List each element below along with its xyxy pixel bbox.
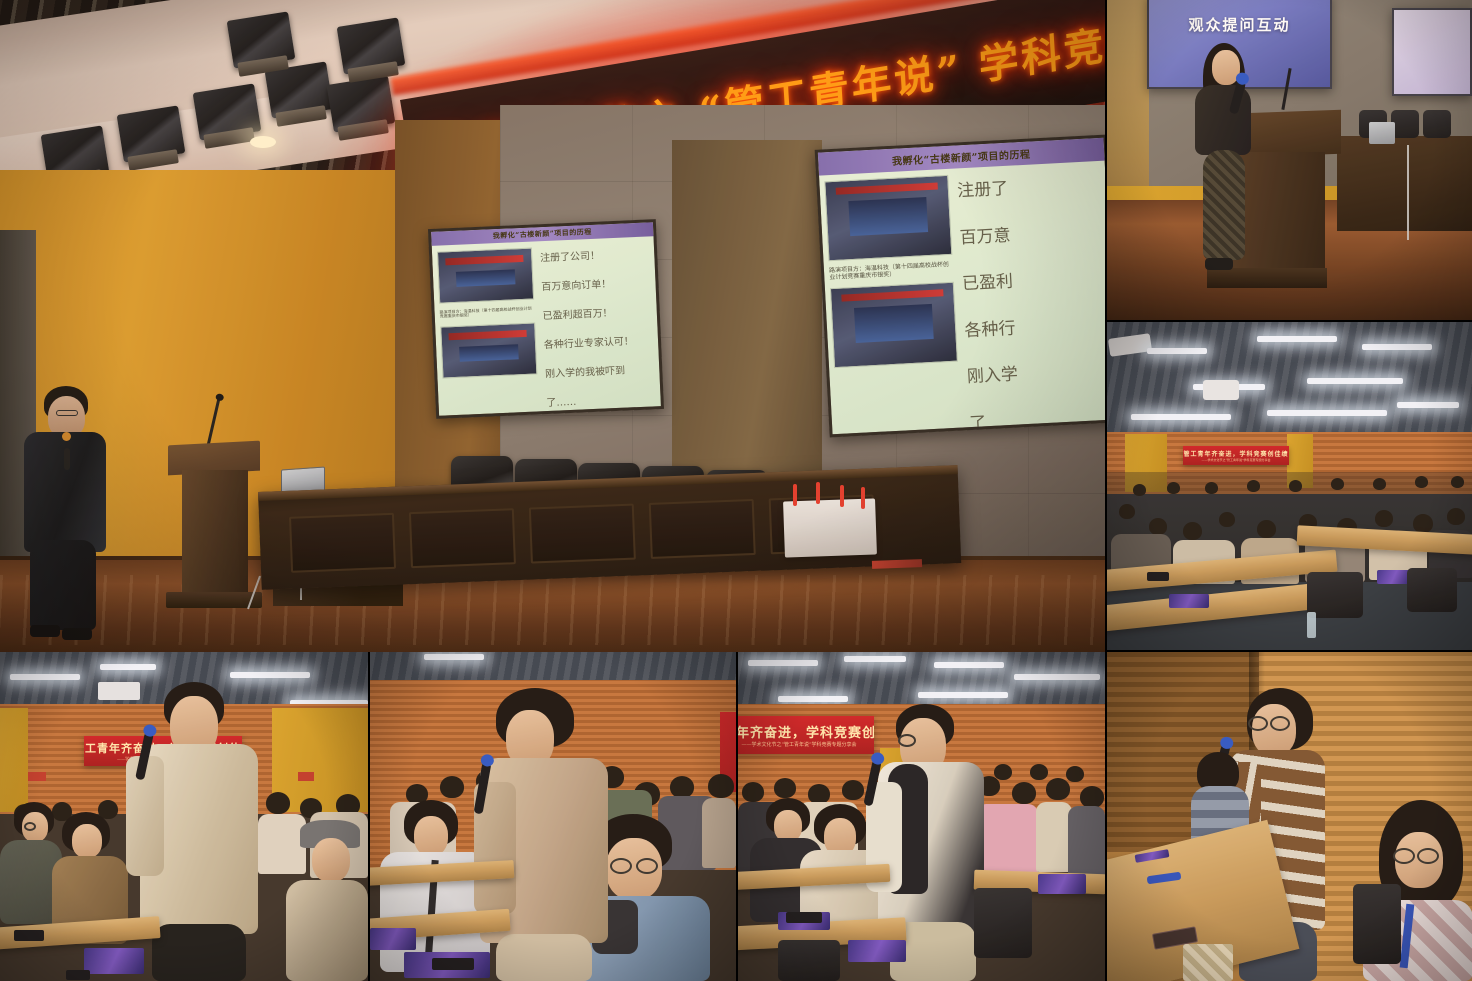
audience-head [1415, 476, 1428, 488]
event-booklet [370, 928, 416, 950]
presenter-microphone [64, 448, 70, 470]
event-booklet [84, 948, 144, 974]
main-hall-photo: 学术文化节之 “管工青年说” 学科竞赛专题分 我孵化“古楼新颜”项目的历程 路演… [0, 0, 1105, 652]
exit-sign [298, 772, 314, 781]
phone [786, 912, 822, 923]
table-panel [529, 504, 636, 564]
slide-body-left: 路演项目方：海温科技（第十四届高校战杯创业计划竞赛重庆市银奖） 注册了公司！ 百… [432, 236, 662, 419]
table-panel [289, 513, 396, 573]
slide-thumbnails-left: 路演项目方：海温科技（第十四届高校战杯创业计划竞赛重庆市银奖） [437, 248, 539, 419]
audience-head [708, 774, 734, 798]
host-top [1195, 85, 1251, 155]
microphone-head-icon [62, 432, 71, 441]
floor-reflection [0, 575, 1105, 645]
questioner-trousers [152, 924, 246, 981]
audience-body [702, 798, 736, 868]
projection-screen-secondary [1392, 8, 1472, 96]
ceiling-light [100, 664, 156, 670]
ceiling-light [1397, 402, 1459, 408]
audience-head [1046, 778, 1070, 800]
slide-line: 各种行业专家认可！ [543, 331, 653, 351]
audience-head [1119, 504, 1135, 519]
host-skirt [1203, 150, 1245, 260]
student-question-photo-2 [370, 652, 736, 981]
slide-line: 已盈利超百万！ [542, 302, 652, 322]
questioner-trousers [496, 934, 592, 981]
ceiling-light [1307, 378, 1403, 384]
presenter-shoe [62, 628, 92, 640]
glasses-icon [636, 858, 658, 874]
slide-lines-right: 注册了 百万意 已盈利 各种行 刚入学 了…… [954, 167, 1105, 438]
audience-head [1247, 480, 1260, 492]
banner-main-text: 管工青年齐奋进，学科竞赛创佳绩 [738, 722, 874, 741]
glasses-icon [1248, 716, 1268, 731]
banner-sub-text: ——学术文化节之“管工青年说”学科竞赛专题分享会 [741, 741, 856, 748]
ceiling-light [1362, 344, 1432, 350]
audience-head [1205, 482, 1218, 494]
stage-spotlight [117, 105, 186, 162]
phone [432, 958, 474, 970]
power-cable [1407, 145, 1409, 240]
podium-base [1207, 268, 1327, 288]
slide-line: 了…… [546, 389, 656, 409]
lecture-chair [1407, 568, 1457, 612]
lecture-chair [1353, 884, 1401, 964]
slide-thumbnail [440, 322, 537, 378]
lecture-hall-wide-photo: 管工青年齐奋进，学科竞赛创佳绩 ——学术文化节之“管工青年说”学科竞赛专题分享会 [1107, 322, 1472, 650]
audience-head [994, 764, 1012, 780]
ceiling-light [748, 660, 818, 666]
projection-screen-left: 我孵化“古楼新颜”项目的历程 路演项目方：海温科技（第十四届高校战杯创业计划竞赛… [428, 219, 664, 419]
audience-body [1036, 802, 1072, 872]
student-question-photo-4 [1107, 652, 1472, 981]
laptop [1369, 122, 1395, 144]
gift-bag-handle [793, 484, 797, 506]
stage-table [1337, 136, 1472, 231]
audience-body [1068, 806, 1105, 878]
audience-head [1012, 782, 1036, 804]
student-top [286, 880, 368, 981]
audience-head [1375, 510, 1393, 527]
student-question-photo-1: 管工青年齐奋进，学科竞赛创佳绩 ——学术文化节之“管工青年说”学科竞赛专题分享会 [0, 652, 368, 981]
slide-thumbnail [830, 282, 958, 368]
wall-banner: 管工青年齐奋进，学科竞赛创佳绩 ——学术文化节之“管工青年说”学科竞赛专题分享会 [1183, 446, 1289, 465]
table-panel [409, 508, 516, 568]
presenter-glasses-icon [56, 410, 78, 416]
event-booklet [848, 940, 906, 962]
slide-thumbnail [824, 175, 952, 261]
audience-head [1133, 484, 1146, 496]
banner-main-text: 管工青年齐奋进，学科竞赛创佳绩 [1183, 449, 1288, 458]
audience-head [1066, 766, 1084, 782]
ceiling-light [230, 672, 310, 678]
slide-line: 百万意向订单！ [541, 273, 651, 293]
slide-line: 已盈利 [961, 262, 1105, 294]
gift-bag-handle [861, 487, 865, 509]
lecture-chair [1307, 572, 1363, 618]
event-booklet [1169, 594, 1209, 608]
ceiling-light [10, 674, 80, 680]
slide-body-right: 路演项目方：海温科技（第十四届高校战杯创业计划竞赛重庆市银奖） 注册了 百万意 … [819, 161, 1105, 438]
audience-head [1447, 508, 1465, 525]
ceiling-light [1014, 674, 1100, 680]
projection-screen-right: 我孵化“古楼新颜”项目的历程 路演项目方：海温科技（第十四届高校战杯创业计划竞赛… [815, 135, 1105, 438]
ceiling-vent [98, 682, 140, 700]
ceiling-light [778, 696, 848, 702]
photo-collage: 学术文化节之 “管工青年说” 学科竞赛专题分 我孵化“古楼新颜”项目的历程 路演… [0, 0, 1472, 981]
student-face [414, 816, 448, 856]
tote-bag [1183, 944, 1233, 981]
slide-line: 百万意 [959, 215, 1104, 247]
slide-lines-left: 注册了公司！ 百万意向订单！ 已盈利超百万！ 各种行业专家认可！ 刚入学的我被吓… [538, 242, 657, 418]
ceiling-light [424, 654, 484, 660]
audience-head [1183, 522, 1202, 540]
ceiling-downlight [250, 136, 276, 148]
slide-thumbnails-right: 路演项目方：海温科技（第十四届高校战杯创业计划竞赛重庆市银奖） [824, 175, 962, 438]
student-face [312, 838, 350, 882]
water-bottle [1307, 612, 1316, 638]
audience-head [266, 792, 290, 814]
ceiling-light [1131, 414, 1231, 420]
slide-line: 刚入学的我被吓到 [545, 360, 655, 380]
audience-head [1451, 476, 1464, 488]
audience-head [774, 778, 796, 798]
lecture-chair [778, 940, 840, 981]
audience-head [1030, 764, 1048, 780]
audience-body [258, 814, 306, 874]
glasses-icon [24, 822, 36, 831]
audience-head [808, 784, 830, 804]
stage-chair [1423, 110, 1451, 138]
stage-spotlight [193, 83, 262, 140]
glasses-icon [610, 858, 632, 874]
ceiling-light [1147, 348, 1207, 354]
student-face [72, 824, 102, 858]
glasses-icon [1393, 848, 1415, 864]
slide-thumbnail [437, 248, 534, 304]
wood-wall-panel [1107, 0, 1149, 215]
presenter-trousers [30, 540, 96, 630]
audience-head [440, 776, 464, 798]
audience-head [670, 776, 694, 798]
slide-line: 注册了 [956, 169, 1101, 201]
audience-head [1149, 518, 1167, 535]
wall-banner: 管工青年齐奋进，学科竞赛创佳绩 ——学术文化节之“管工青年说”学科竞赛专题分享会 [738, 716, 874, 754]
audience-head [1413, 514, 1433, 533]
podium-body [182, 470, 248, 598]
slide-line: 注册了公司！ [540, 244, 650, 264]
audience-head [1331, 478, 1344, 490]
host-shoe [1205, 258, 1233, 270]
table-panel [649, 499, 756, 559]
slide-line: 各种行 [964, 309, 1105, 341]
ceiling-light [1257, 336, 1337, 342]
audience-head [1257, 520, 1276, 538]
gift-bag-handle [816, 482, 820, 504]
ceiling-light [844, 656, 906, 662]
audience-head [1289, 480, 1302, 492]
presenter-shoe [30, 625, 60, 637]
glasses-icon [1417, 848, 1439, 864]
banner-sub-text: ——学术文化节之“管工青年说”学科竞赛专题分享会 [1201, 458, 1270, 462]
podium-host-photo: 观众提问互动 [1107, 0, 1472, 320]
phone [66, 970, 90, 980]
audience-head [1373, 478, 1386, 490]
phone [1147, 572, 1169, 581]
glasses-icon [1270, 716, 1290, 731]
wall-door [0, 708, 28, 812]
ceiling-fan [1203, 380, 1239, 400]
student-question-photo-3: 管工青年齐奋进，学科竞赛创佳绩 ——学术文化节之“管工青年说”学科竞赛专题分享会 [738, 652, 1105, 981]
glasses-icon [898, 734, 916, 747]
audience-head [1080, 786, 1104, 808]
exit-sign [28, 772, 46, 781]
ceiling-light [934, 662, 1004, 668]
audience-head [1219, 512, 1235, 527]
screen-text: 观众提问互动 [1188, 14, 1290, 35]
slide-caption-left: 路演项目方：海温科技（第十四届高校战杯创业计划竞赛重庆市银奖） [440, 307, 535, 320]
slide-line: 刚入学 [966, 355, 1105, 387]
ceiling-light [918, 692, 1008, 698]
audience-body [976, 804, 1038, 874]
lecture-chair [974, 888, 1032, 958]
event-booklet [1377, 570, 1411, 584]
ceiling-light [1267, 410, 1387, 416]
gift-bag-handle [840, 485, 844, 507]
audience-head [742, 782, 764, 802]
stage-chair [1391, 110, 1419, 138]
stage-spotlight [227, 11, 296, 68]
audience-head [842, 780, 864, 800]
phone [14, 930, 44, 941]
slide-caption-right: 路演项目方：海温科技（第十四届高校战杯创业计划竞赛重庆市银奖） [829, 262, 954, 282]
lecture-desk [1107, 581, 1338, 633]
audience-head [1167, 482, 1180, 494]
event-booklet [1038, 874, 1086, 894]
